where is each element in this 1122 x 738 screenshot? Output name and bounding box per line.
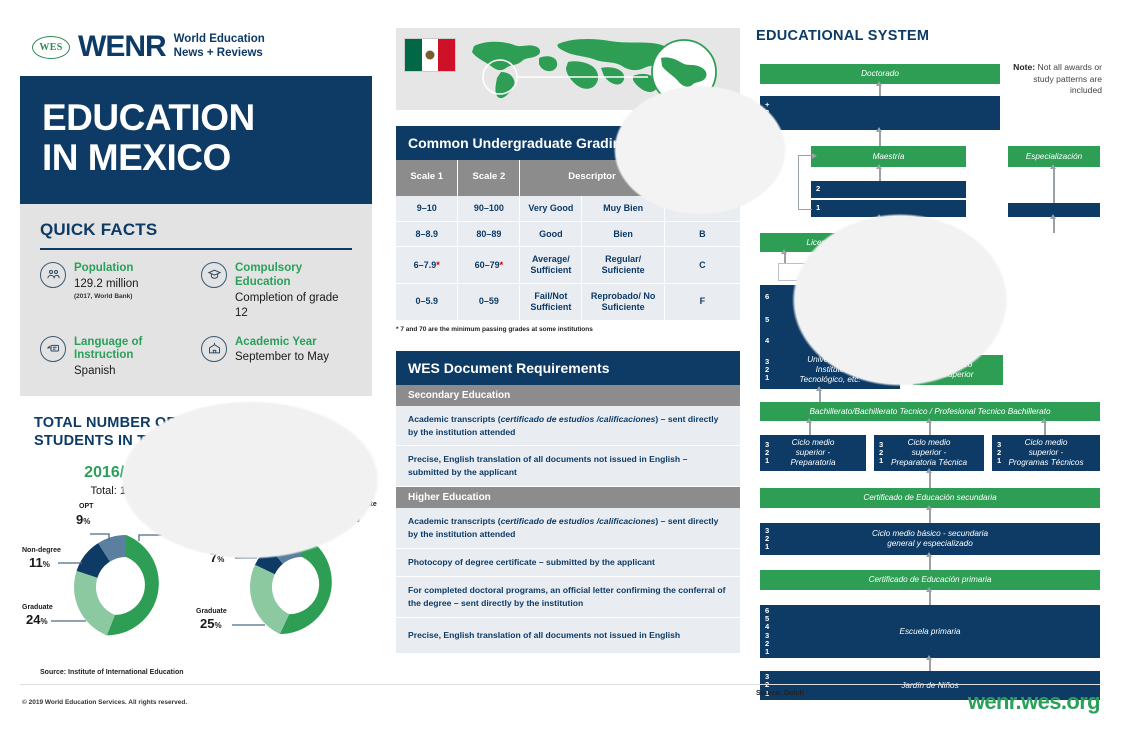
ciclo2-line1: Ciclo medio — [908, 438, 951, 448]
node-maestria-year2: 2 — [811, 181, 966, 198]
donut-chart-2017-2018: 2017/2018 Total: 15,468 — [210, 464, 386, 655]
node-ciclo-preparatoria: 3 2 1 Ciclo medio superior - Preparatori… — [760, 435, 866, 471]
cell-desc-en: Fail/Not Sufficient — [520, 284, 582, 320]
fact-population: Population 129.2 million (2017, World Ba… — [40, 262, 191, 322]
donut1-total: Total: 16,835 — [34, 485, 210, 497]
quick-facts-heading: QUICK FACTS — [40, 220, 352, 240]
wes-logo-icon: WES — [32, 36, 70, 59]
list-item: Precise, English translation of all docu… — [396, 446, 740, 487]
ciclo1-line3: Preparatoria — [790, 458, 835, 468]
years-tecnico: 2 1 — [918, 355, 922, 385]
cell-wes: F — [664, 284, 740, 320]
years-ciclo3: 3 2 1 — [997, 435, 1001, 471]
escuela-primaria-label: Escuela primaria — [900, 627, 961, 637]
fact-language-label1: Language of — [74, 336, 142, 350]
donut1-label-nondegree: Non-degree — [22, 547, 61, 554]
cell-scale2: 80–89 — [458, 221, 520, 247]
node-universidad-step4: 4 — [760, 331, 868, 351]
arrow-up-to-cert-primaria — [929, 591, 931, 605]
page-title: EDUCATION IN MEXICO — [20, 76, 372, 204]
donut2-label-nondegree: Non-degree — [200, 542, 239, 549]
cell-scale2: 0–59 — [458, 284, 520, 320]
cell-scale2: 60–79* — [458, 247, 520, 284]
donut2-pct-nondegree: 7% — [210, 550, 224, 565]
map-banner — [396, 28, 740, 110]
speech-bubble-icon — [40, 336, 66, 362]
cell-desc-es: Reprobado/ No Suficiente — [582, 284, 664, 320]
grading-table-header-row: Scale 1 Scale 2 Descriptor WES Conversio… — [396, 160, 740, 196]
wenr-tagline-line1: World Education — [174, 33, 265, 47]
years-universidad-6: 6 — [765, 285, 769, 309]
node-maestria: Maestría — [811, 146, 966, 167]
bracket-maestria-reentry — [798, 155, 812, 210]
cell-scale2: 90–100 — [458, 196, 520, 221]
donut2-label-opt: OPT — [256, 501, 270, 508]
years-maestria-2: 2 — [816, 181, 820, 198]
cell-scale1: 9–10 — [396, 196, 458, 221]
ciclo3-line2: superior - — [1029, 448, 1064, 458]
donut1-graphic: Undergraduate 56% OPT 9% Non-degree 11% … — [34, 503, 210, 655]
people-icon — [40, 262, 66, 288]
wenr-tagline: World Education News + Reviews — [174, 33, 265, 61]
years-universidad-5: 5 — [765, 309, 769, 331]
node-universidad: 3 2 1 Universidad, Instituto Tecnológico… — [760, 351, 900, 389]
quick-facts-section: QUICK FACTS Population 129.2 million (20… — [20, 204, 372, 396]
fact-compulsory-education: Compulsory Education Completion of grade… — [201, 262, 352, 322]
years-maestria-1: 1 — [816, 200, 820, 217]
years-escuela-primaria: 6 5 4 3 2 1 — [765, 605, 769, 658]
table-row: 8–8.9 80–89 Good Bien B — [396, 221, 740, 247]
middle-column: Common Undergraduate Grading Scales Scal… — [396, 28, 740, 654]
fact-population-text: Population 129.2 million (2017, World Ba… — [74, 262, 139, 302]
cell-scale1: 8–8.9 — [396, 221, 458, 247]
arrow-up-to-maestria — [879, 168, 881, 181]
school-building-icon — [201, 336, 227, 362]
donut1-pct-graduate: 24% — [26, 612, 48, 627]
fact-population-value: 129.2 million — [74, 277, 139, 293]
donut-charts: 2016/2017 Total: 16,835 — [34, 464, 358, 655]
arrow-up-bachillerato-to-universidad — [819, 390, 821, 402]
years-doctorado: + 2 1 — [765, 96, 769, 130]
list-item: For completed doctoral programs, an offi… — [396, 577, 740, 618]
cell-wes: A — [664, 196, 740, 221]
arrow-up-to-cert-secundaria — [929, 509, 931, 523]
donut2-total: Total: 15,468 — [210, 485, 386, 497]
years-universidad-4: 4 — [765, 331, 769, 351]
tecnico-line1: Técnico — [944, 360, 973, 370]
fact-language-value: Spanish — [74, 364, 142, 380]
cell-scale1: 0–5.9 — [396, 284, 458, 320]
list-item: Photocopy of degree certificate – submit… — [396, 549, 740, 577]
table-row: 6–7.9* 60–79* Average/ Sufficient Regula… — [396, 247, 740, 284]
years-universidad-321: 3 2 1 — [765, 351, 769, 389]
grading-scales-table: Common Undergraduate Grading Scales Scal… — [396, 126, 740, 333]
document-requirements-section: WES Document Requirements Secondary Educ… — [396, 351, 740, 654]
list-item: Academic transcripts (certificado de est… — [396, 508, 740, 549]
arrow-right-to-tecnico — [901, 370, 911, 372]
left-column: WES WENR World Education News + Reviews … — [20, 20, 372, 676]
years-ciclo-basico: 3 2 1 — [765, 523, 769, 555]
donut2-label-undergraduate: Undergraduate — [327, 501, 377, 508]
arrow-up-ciclo1 — [809, 422, 811, 435]
donut2-pct-opt: 11% — [250, 510, 271, 525]
arrow-up-to-especializacion — [1053, 168, 1055, 203]
col-scale2: Scale 2 — [458, 160, 520, 196]
universidad-line2: Instituto — [816, 365, 845, 375]
page-title-line2: IN MEXICO — [42, 138, 350, 178]
arrow-up-cert-secundaria — [929, 472, 931, 488]
fact-academic-year-text: Academic Year September to May — [235, 336, 329, 366]
donut1-pct-opt: 9% — [76, 512, 90, 527]
education-system-diagram: Note: Not all awards or study patterns a… — [756, 56, 1102, 681]
graduation-cap-icon — [201, 262, 227, 288]
arrow-up-ciclo3 — [1044, 422, 1046, 435]
arrow-up-egresado-3 — [850, 253, 852, 263]
table-row: 0–5.9 0–59 Fail/Not Sufficient Reprobado… — [396, 284, 740, 320]
cell-desc-en: Good — [520, 221, 582, 247]
donut1-pct-nondegree: 11% — [29, 555, 50, 570]
copyright-text: © 2019 World Education Services. All rig… — [22, 699, 187, 706]
donut1-label-graduate: Graduate — [22, 604, 53, 611]
donut1-label-opt: OPT — [79, 503, 93, 510]
ciclo-basico-line1: Ciclo medio básico - secundaria — [872, 529, 988, 539]
ciclo2-line2: superior - — [912, 448, 947, 458]
grading-scales-heading: Common Undergraduate Grading Scales — [396, 126, 740, 160]
infographic-page: WES WENR World Education News + Reviews … — [0, 0, 1122, 738]
wenr-tagline-line2: News + Reviews — [174, 47, 265, 61]
node-maestria-year1: 1 — [811, 200, 966, 217]
documents-heading: WES Document Requirements — [396, 351, 740, 385]
universidad-line3: Tecnológico, etc. — [799, 375, 860, 385]
list-item: Academic transcripts (certificado de est… — [396, 406, 740, 447]
wenr-url[interactable]: wenr.wes.org — [968, 689, 1100, 715]
donut2-year: 2017/2018 — [210, 464, 386, 482]
world-map-icon — [396, 28, 740, 110]
node-egresado-pasante: Egresado pasante — [778, 263, 898, 281]
ciclo-basico-line2: general y especializado — [887, 539, 973, 549]
tecnico-line2: Superior — [943, 370, 974, 380]
education-system-heading: EDUCATIONAL SYSTEM — [756, 28, 1102, 44]
years-ciclo1: 3 2 1 — [765, 435, 769, 471]
fact-compulsory-value: Completion of grade 12 — [235, 291, 352, 322]
years-ciclo2: 3 2 1 — [879, 435, 883, 471]
fact-academic-year-value: September to May — [235, 350, 329, 366]
students-chart-source: Source: Institute of International Educa… — [40, 669, 358, 676]
list-item: Precise, English translation of all docu… — [396, 618, 740, 654]
right-column: EDUCATIONAL SYSTEM Note: Not all awards … — [756, 28, 1102, 681]
ciclo3-line1: Ciclo medio — [1025, 438, 1068, 448]
node-universidad-step6: 6 — [760, 285, 802, 309]
fact-language-label2: Instruction — [74, 349, 142, 363]
grading-table: Scale 1 Scale 2 Descriptor WES Conversio… — [396, 160, 740, 320]
node-doctorado-years: + 2 1 — [760, 96, 1000, 130]
node-escuela-primaria: 6 5 4 3 2 1 Escuela primaria — [760, 605, 1100, 658]
arrow-up-egresado-2 — [818, 253, 820, 263]
cell-desc-es: Bien — [582, 221, 664, 247]
col-descriptor: Descriptor — [520, 160, 664, 196]
quick-facts-grid: Population 129.2 million (2017, World Ba… — [40, 262, 352, 380]
arrow-up-licenciatura-to-maestria — [879, 218, 881, 233]
donut2-graphic: Undergraduate 57% OPT 11% Non-degree 7% … — [210, 503, 386, 655]
arrow-up-egresado-1 — [784, 253, 786, 263]
cell-wes: B — [664, 221, 740, 247]
page-footer: © 2019 World Education Services. All rig… — [20, 684, 1102, 730]
arrow-up-licenciatura-to-especializacion — [1053, 218, 1055, 233]
donut-chart-2016-2017: 2016/2017 Total: 16,835 — [34, 464, 210, 655]
arrow-up-jardin-to-primaria — [929, 659, 931, 671]
donut1-year: 2016/2017 — [34, 464, 210, 482]
grading-footnote: * 7 and 70 are the minimum passing grade… — [396, 326, 740, 333]
students-chart-section: TOTAL NUMBER OF MEXICAN STUDENTS IN THE … — [20, 396, 372, 676]
col-wes-conversion: WES Conversion — [664, 160, 740, 196]
cell-wes: C — [664, 247, 740, 284]
ciclo1-line2: superior - — [796, 448, 831, 458]
fact-compulsory-education-text: Compulsory Education Completion of grade… — [235, 262, 352, 322]
fact-compulsory-label2: Education — [235, 276, 352, 290]
fact-academic-year: Academic Year September to May — [201, 336, 352, 380]
arrow-up-ciclo2 — [929, 422, 931, 435]
fact-population-note: (2017, World Bank) — [74, 293, 139, 302]
students-chart-title-line1: TOTAL NUMBER OF MEXICAN — [34, 414, 358, 432]
fact-population-label: Population — [74, 262, 139, 276]
cell-desc-en: Very Good — [520, 196, 582, 221]
wenr-wordmark: WENR — [78, 30, 166, 64]
arrow-up-maestria-to-doctorado — [879, 131, 881, 146]
donut2-label-graduate: Graduate — [196, 608, 227, 615]
arrow-up-egresado-4 — [881, 253, 883, 263]
fact-compulsory-label1: Compulsory — [235, 262, 352, 276]
node-ciclo-programas-tecnicos: 3 2 1 Ciclo medio superior - Programas T… — [992, 435, 1100, 471]
donut2-pct-graduate: 25% — [200, 616, 222, 631]
fact-language-of-instruction: Language of Instruction Spanish — [40, 336, 191, 380]
diagram-note: Note: Not all awards or study patterns a… — [1006, 62, 1102, 97]
ciclo2-line3: Preparatoria Técnica — [891, 458, 967, 468]
universidad-line1: Universidad, — [807, 355, 853, 365]
donut1-label-undergraduate: Undergraduate — [149, 503, 199, 510]
wenr-logo: WES WENR World Education News + Reviews — [20, 20, 372, 76]
ciclo1-line1: Ciclo medio — [792, 438, 835, 448]
donut1-pct-undergraduate: 56% — [162, 512, 184, 527]
cell-desc-es: Muy Bien — [582, 196, 664, 221]
ciclo3-line3: Programas Técnicos — [1008, 458, 1083, 468]
fact-academic-year-label: Academic Year — [235, 336, 329, 350]
fact-language-text: Language of Instruction Spanish — [74, 336, 142, 380]
donut2-pct-undergraduate: 57% — [338, 510, 360, 525]
cell-desc-en: Average/ Sufficient — [520, 247, 582, 284]
grading-table-body: 9–10 90–100 Very Good Muy Bien A 8–8.9 8… — [396, 196, 740, 320]
node-tecnico-superior: 2 1 Técnico Superior — [913, 355, 1003, 385]
documents-section-higher: Higher Education — [396, 487, 740, 508]
documents-section-secondary: Secondary Education — [396, 385, 740, 406]
page-title-line1: EDUCATION — [42, 98, 350, 138]
node-universidad-step5: 5 — [760, 309, 836, 331]
node-ciclo-preparatoria-tecnica: 3 2 1 Ciclo medio superior - Preparatori… — [874, 435, 984, 471]
table-row: 9–10 90–100 Very Good Muy Bien A — [396, 196, 740, 221]
node-ciclo-medio-basico: 3 2 1 Ciclo medio básico - secundaria ge… — [760, 523, 1100, 555]
students-chart-title-line2: STUDENTS IN THE U.S. — [34, 432, 358, 450]
quick-facts-divider — [40, 248, 352, 250]
col-scale1: Scale 1 — [396, 160, 458, 196]
cell-desc-es: Regular/ Suficiente — [582, 247, 664, 284]
cell-scale1: 6–7.9* — [396, 247, 458, 284]
arrow-up-cert-primaria — [929, 556, 931, 570]
